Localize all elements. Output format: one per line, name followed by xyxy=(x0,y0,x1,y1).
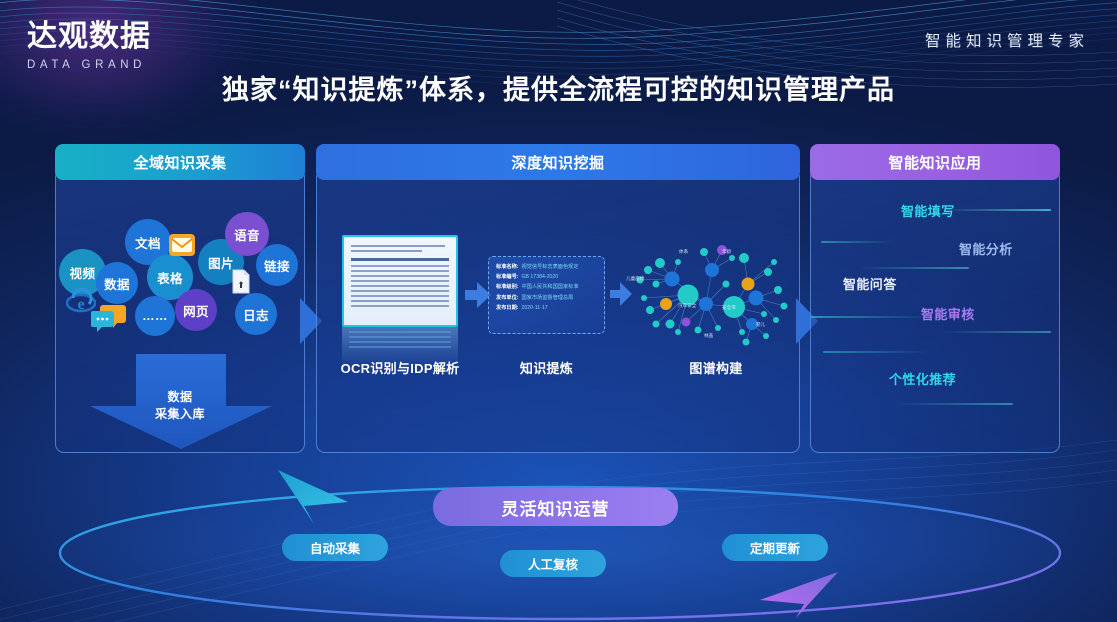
step-label-extract: 知识提炼 xyxy=(488,358,605,377)
source-bubble[interactable]: 链接 xyxy=(256,244,298,286)
cycle-arrow-bottom-right xyxy=(754,570,840,618)
panel-collect: 文档视频数据表格图片语音链接……网页日志 ⬆ e xyxy=(55,168,305,453)
operations-main-pill[interactable]: 灵活知识运营 xyxy=(433,488,678,526)
info-card-key: 发布日期: xyxy=(496,304,518,311)
data-ingest-label-line2: 采集入库 xyxy=(56,406,304,423)
streak-decoration-2 xyxy=(821,241,893,243)
brand-tagline-reflection: 智能知识管理专家 xyxy=(925,37,1089,49)
info-card-value: 国家市场监督管理总局 xyxy=(521,294,573,301)
cycle-arrow-top-left xyxy=(272,466,352,528)
application-keyword[interactable]: 智能问答 xyxy=(843,274,897,293)
step-label-ocr: OCR识别与IDP解析 xyxy=(332,358,468,377)
extracted-info-card: 标准名称:视觉信号标志表面色规定标准编号:GB 17384-2020标准级别:中… xyxy=(488,256,605,334)
step-label-graph: 图谱构建 xyxy=(636,358,796,377)
streak-decoration-6 xyxy=(823,351,931,353)
panel-application: 智能填写智能分析智能问答智能审核个性化推荐 xyxy=(810,168,1060,453)
streak-decoration-4 xyxy=(811,316,933,318)
page-title: 独家“知识提炼”体系，提供全流程可控的知识管理产品 xyxy=(0,68,1117,107)
info-card-key: 发布单位: xyxy=(496,294,518,301)
email-icon xyxy=(168,231,196,264)
brand-name-cn: 达观数据 xyxy=(27,22,151,52)
panel-header-mining: 深度知识挖掘 xyxy=(316,144,800,180)
info-card-value: 2020-11-17 xyxy=(521,305,547,311)
application-keyword[interactable]: 个性化推荐 xyxy=(889,369,956,388)
brand-logo: 达观数据 DATA GRAND xyxy=(27,22,151,71)
streak-decoration-3 xyxy=(857,267,969,269)
graph-node-label: 汽车安全 xyxy=(678,303,696,309)
chat-bubble-icon xyxy=(91,303,127,338)
graph-node-label: 林盖 xyxy=(704,333,713,339)
panel-header-application: 智能知识应用 xyxy=(810,144,1060,180)
source-bubble[interactable]: 数据 xyxy=(96,262,138,304)
operations-pill-manual-review[interactable]: 人工复核 xyxy=(500,550,606,577)
operations-pill-periodic-update[interactable]: 定期更新 xyxy=(722,534,828,561)
source-bubble[interactable]: …… xyxy=(135,296,175,336)
application-keyword[interactable]: 智能分析 xyxy=(959,239,1013,258)
info-card-value: 视觉信号标志表面色规定 xyxy=(521,263,578,270)
graph-node-label: 年龄 xyxy=(722,249,731,255)
info-card-row: 发布单位:国家市场监督管理总局 xyxy=(496,294,597,301)
source-bubble[interactable]: 日志 xyxy=(235,293,277,335)
info-card-row: 标准名称:视觉信号标志表面色规定 xyxy=(496,263,597,270)
application-keyword[interactable]: 智能填写 xyxy=(901,201,955,220)
pdf-file-icon: ⬆ xyxy=(231,269,251,299)
info-card-key: 标准编号: xyxy=(496,273,518,280)
graph-node-label: 婴儿 xyxy=(756,322,765,328)
graph-node-label: 安全带 xyxy=(722,305,736,311)
operations-pill-auto-collect[interactable]: 自动采集 xyxy=(282,534,388,561)
graph-node-label: 体系 xyxy=(679,249,688,255)
info-card-value: GB 17384-2020 xyxy=(521,274,558,280)
data-ingest-label-line1: 数据 xyxy=(56,389,304,406)
info-card-key: 标准名称: xyxy=(496,263,518,270)
streak-decoration-7 xyxy=(893,403,1013,405)
info-card-row: 标准编号:GB 17384-2020 xyxy=(496,273,597,280)
graph-node-label: 儿童座椅 xyxy=(626,276,644,282)
source-bubble[interactable]: 网页 xyxy=(175,289,217,331)
info-card-value: 中国人民共和国国家标准 xyxy=(521,283,578,290)
svg-text:e: e xyxy=(77,296,84,313)
slide-canvas: 达观数据 DATA GRAND 智能知识管理专家 智能知识管理专家 独家“知识提… xyxy=(0,0,1117,622)
knowledge-graph-visual: 儿童座椅体系年龄汽车安全安全带婴儿林盖 xyxy=(626,232,806,357)
document-thumbnail xyxy=(342,235,458,327)
svg-text:⬆: ⬆ xyxy=(237,280,245,290)
info-card-key: 标准级别: xyxy=(496,283,518,290)
streak-decoration-5 xyxy=(941,331,1051,333)
info-card-row: 标准级别:中国人民共和国国家标准 xyxy=(496,283,597,290)
knowledge-graph-svg xyxy=(626,232,806,357)
streak-decoration-1 xyxy=(939,209,1051,211)
application-keyword[interactable]: 智能审核 xyxy=(921,304,975,323)
panel-header-collect: 全域知识采集 xyxy=(55,144,305,180)
info-card-row: 发布日期:2020-11-17 xyxy=(496,304,597,311)
